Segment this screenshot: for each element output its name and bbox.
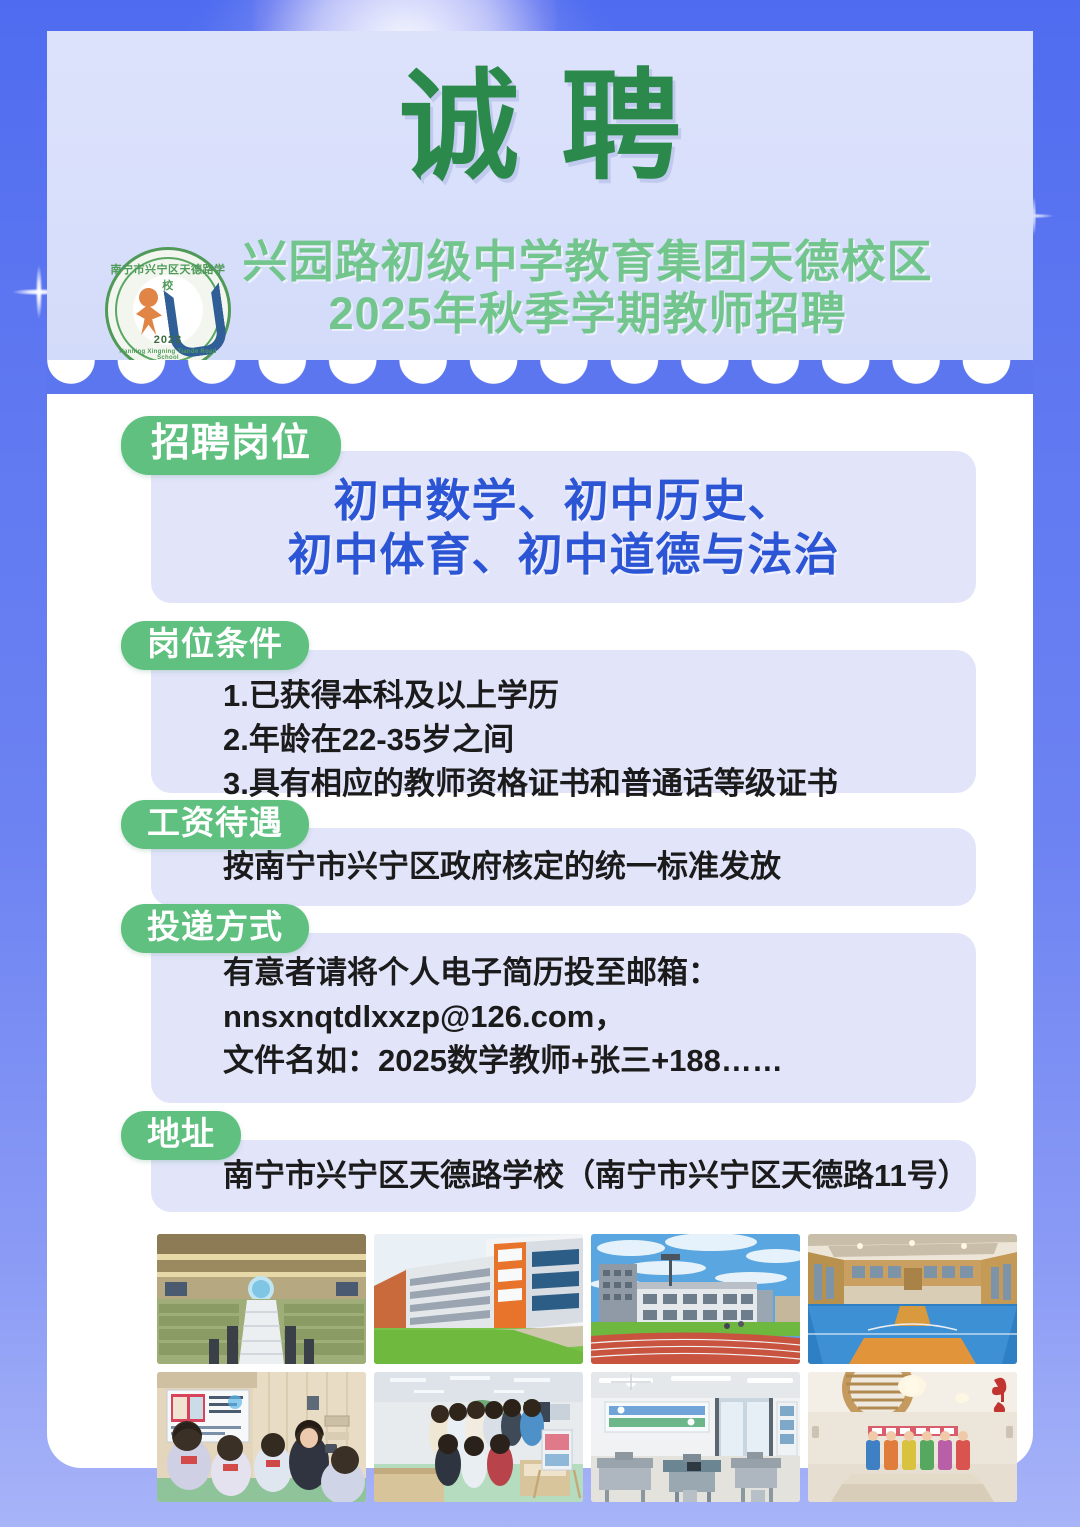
page-title: 诚聘 [47,67,1033,187]
photo-campus-lawn [374,1234,583,1364]
section-badge-jobs: 招聘岗位 [121,416,341,475]
photo-track-field [591,1234,800,1364]
photo-auditorium [157,1234,366,1364]
section-badge-requirements: 岗位条件 [121,621,309,670]
jobs-line-2: 初中体育、初中道德与法治 [151,528,976,582]
seal-arc-bottom-text: Nanning Xingning Tiande Road School [108,349,228,360]
apply-filename-format: 文件名如：2025数学教师+张三+188…… [223,1039,956,1083]
address-text: 南宁市兴宁区天德路学校（南宁市兴宁区天德路11号） [223,1154,969,1198]
recruitment-poster: 诚聘 南宁市兴宁区天德路学校 2023 Nanning Xingning Tia… [0,0,1080,1527]
requirements-panel: 1.已获得本科及以上学历 2.年龄在22-35岁之间 3.具有相应的教师资格证书… [151,650,976,793]
photo-science-lab [591,1372,800,1502]
subtitle-line-1: 兴园路初级中学教育集团天德校区 [162,236,1013,288]
jobs-badge-wrap: 招聘岗位 [121,416,341,475]
section-badge-salary: 工资待遇 [121,800,309,849]
list-item: 3.具有相应的教师资格证书和普通话等级证书 [223,762,956,806]
photo-reading-room [374,1372,583,1502]
section-badge-address: 地址 [121,1111,241,1160]
jobs-text: 初中数学、初中历史、 初中体育、初中道德与法治 [151,474,976,582]
salary-badge-wrap: 工资待遇 [121,800,309,849]
list-item: 1.已获得本科及以上学历 [223,674,956,718]
header-panel: 诚聘 南宁市兴宁区天德路学校 2023 Nanning Xingning Tia… [47,31,1033,360]
content-card: 招聘岗位 初中数学、初中历史、 初中体育、初中道德与法治 岗位条件 1.已获得本… [47,360,1033,1468]
address-badge-wrap: 地址 [121,1111,241,1160]
photo-music-room [808,1372,1017,1502]
apply-lines: 有意者请将个人电子简历投至邮箱： nnsxnqtdlxxzp@126.com， … [223,951,956,1083]
requirements-badge-wrap: 岗位条件 [121,621,309,670]
apply-line-1: 有意者请将个人电子简历投至邮箱： [223,951,956,995]
requirements-list: 1.已获得本科及以上学历 2.年龄在22-35岁之间 3.具有相应的教师资格证书… [223,674,956,806]
section-badge-apply: 投递方式 [121,904,309,953]
photo-grid [157,1234,1017,1502]
apply-panel: 有意者请将个人电子简历投至邮箱： nnsxnqtdlxxzp@126.com， … [151,933,976,1103]
header-subtitle: 兴园路初级中学教育集团天德校区 2025年秋季学期教师招聘 [47,236,1033,340]
jobs-line-1: 初中数学、初中历史、 [151,474,976,528]
photo-gymnasium [808,1234,1017,1364]
scalloped-edge-decoration [47,360,1033,394]
list-item: 2.年龄在22-35岁之间 [223,718,956,762]
address-panel: 南宁市兴宁区天德路学校（南宁市兴宁区天德路11号） [151,1140,976,1212]
apply-badge-wrap: 投递方式 [121,904,309,953]
subtitle-line-2: 2025年秋季学期教师招聘 [162,288,1013,340]
apply-email[interactable]: nnsxnqtdlxxzp@126.com， [223,995,956,1039]
photo-classroom [157,1372,366,1502]
salary-text: 按南宁市兴宁区政府核定的统一标准发放 [223,845,781,889]
